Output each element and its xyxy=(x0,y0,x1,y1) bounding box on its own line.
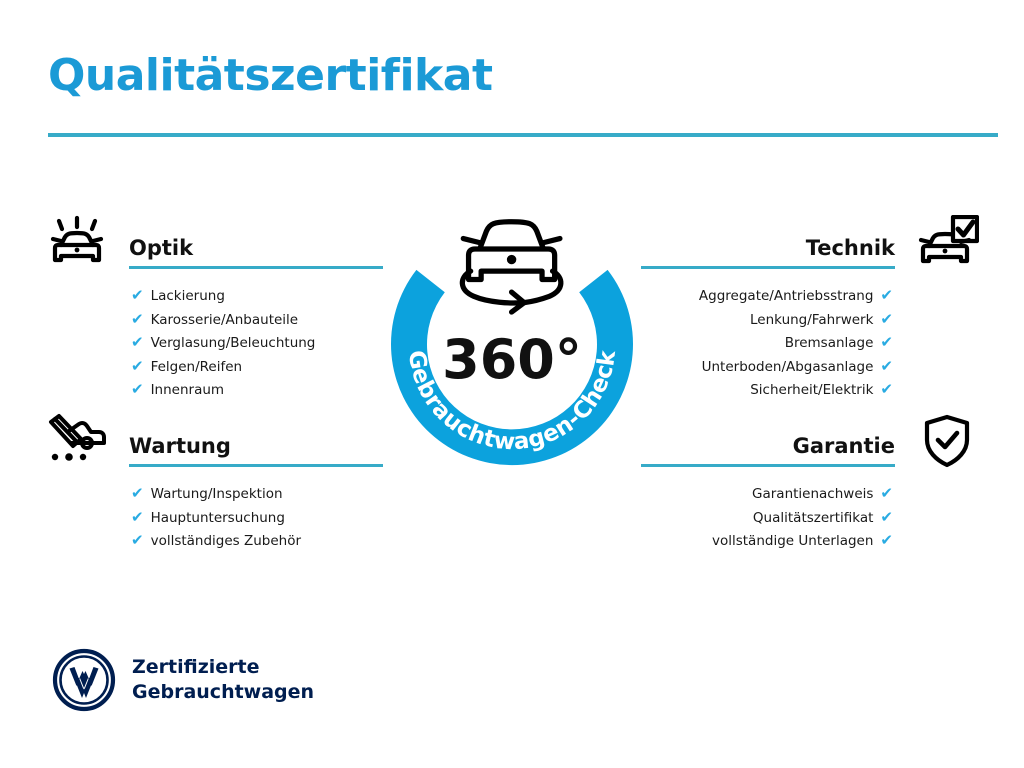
check-icon: ✔ xyxy=(880,359,893,374)
check-icon: ✔ xyxy=(131,510,144,525)
section-title-wrap: Technik xyxy=(641,214,895,272)
list-item: ✔Karosserie/Anbauteile xyxy=(43,309,383,333)
check-icon: ✔ xyxy=(880,312,893,327)
list-item: ✔Verglasung/Beleuchtung xyxy=(43,332,383,356)
section-title: Garantie xyxy=(793,434,895,458)
section-title: Wartung xyxy=(129,434,231,458)
footer-brand-text: Zertifizierte Gebrauchtwagen xyxy=(132,655,314,705)
list-item: ✔Hauptuntersuchung xyxy=(43,507,383,531)
list-item-label: Innenraum xyxy=(151,379,225,403)
section-header: Optik xyxy=(43,214,383,276)
list-item: Qualitätszertifikat✔ xyxy=(641,507,981,531)
car-checkbox-icon xyxy=(913,214,981,272)
badge-360-gebrauchtwagen-check: Gebrauchtwagen-Check 360° xyxy=(369,196,655,486)
list-item-label: Qualitätszertifikat xyxy=(753,507,874,531)
service-record-pencil-car-icon xyxy=(43,412,111,470)
header-divider xyxy=(48,133,998,137)
section-title-wrap: Garantie xyxy=(641,412,895,470)
section-divider xyxy=(641,266,895,269)
check-icon: ✔ xyxy=(131,359,144,374)
section-divider xyxy=(129,266,383,269)
list-item: ✔vollständiges Zubehör xyxy=(43,530,383,554)
check-icon: ✔ xyxy=(880,510,893,525)
check-icon: ✔ xyxy=(880,335,893,350)
vw-logo xyxy=(52,648,116,712)
check-icon: ✔ xyxy=(131,288,144,303)
check-icon: ✔ xyxy=(131,335,144,350)
list-item: Unterboden/Abgasanlage✔ xyxy=(641,356,981,380)
badge-center-label: 360° xyxy=(442,328,582,391)
list-item-label: Garantienachweis xyxy=(752,483,873,507)
section-divider xyxy=(129,464,383,467)
check-icon: ✔ xyxy=(131,533,144,548)
checklist-optik: ✔Lackierung ✔Karosserie/Anbauteile ✔Verg… xyxy=(43,285,383,403)
list-item-label: Hauptuntersuchung xyxy=(151,507,285,531)
car-rotate-360-icon xyxy=(462,222,561,312)
list-item: Garantienachweis✔ xyxy=(641,483,981,507)
checklist-technik: Aggregate/Antriebsstrang✔ Lenkung/Fahrwe… xyxy=(641,285,981,403)
footer-brand: Zertifizierte Gebrauchtwagen xyxy=(52,648,314,712)
section-divider xyxy=(641,464,895,467)
list-item-label: vollständige Unterlagen xyxy=(712,530,873,554)
section-header: Garantie xyxy=(641,412,981,474)
list-item-label: Aggregate/Antriebsstrang xyxy=(699,285,874,309)
list-item: vollständige Unterlagen✔ xyxy=(641,530,981,554)
list-item: Bremsanlage✔ xyxy=(641,332,981,356)
check-icon: ✔ xyxy=(880,288,893,303)
section-technik: Technik Aggregate/Antriebsstrang✔ Lenkun… xyxy=(641,214,981,403)
page-title: Qualitätszertifikat xyxy=(48,52,493,100)
list-item-label: Lackierung xyxy=(151,285,225,309)
list-item: Aggregate/Antriebsstrang✔ xyxy=(641,285,981,309)
list-item-label: Wartung/Inspektion xyxy=(151,483,283,507)
list-item-label: Karosserie/Anbauteile xyxy=(151,309,299,333)
section-title-wrap: Optik xyxy=(129,214,383,272)
list-item: Sicherheit/Elektrik✔ xyxy=(641,379,981,403)
section-wartung: Wartung ✔Wartung/Inspektion ✔Hauptunters… xyxy=(43,412,383,554)
section-title-wrap: Wartung xyxy=(129,412,383,470)
check-icon: ✔ xyxy=(131,312,144,327)
list-item-label: vollständiges Zubehör xyxy=(151,530,301,554)
check-icon: ✔ xyxy=(880,486,893,501)
section-header: Technik xyxy=(641,214,981,276)
check-icon: ✔ xyxy=(880,533,893,548)
list-item-label: Felgen/Reifen xyxy=(151,356,243,380)
section-garantie: Garantie Garantienachweis✔ Qualitätszert… xyxy=(641,412,981,554)
list-item: Lenkung/Fahrwerk✔ xyxy=(641,309,981,333)
footer-line-2: Gebrauchtwagen xyxy=(132,680,314,705)
list-item-label: Unterboden/Abgasanlage xyxy=(702,356,874,380)
list-item-label: Verglasung/Beleuchtung xyxy=(151,332,316,356)
section-header: Wartung xyxy=(43,412,383,474)
section-optik: Optik ✔Lackierung ✔Karosserie/Anbauteile… xyxy=(43,214,383,403)
badge-svg: Gebrauchtwagen-Check 360° xyxy=(369,196,655,486)
list-item: ✔Wartung/Inspektion xyxy=(43,483,383,507)
list-item-label: Bremsanlage xyxy=(785,332,874,356)
list-item: ✔Felgen/Reifen xyxy=(43,356,383,380)
list-item: ✔Innenraum xyxy=(43,379,383,403)
checklist-garantie: Garantienachweis✔ Qualitätszertifikat✔ v… xyxy=(641,483,981,554)
check-icon: ✔ xyxy=(131,486,144,501)
checklist-wartung: ✔Wartung/Inspektion ✔Hauptuntersuchung ✔… xyxy=(43,483,383,554)
list-item-label: Lenkung/Fahrwerk xyxy=(750,309,873,333)
check-icon: ✔ xyxy=(131,382,144,397)
car-shine-icon xyxy=(43,214,111,272)
list-item: ✔Lackierung xyxy=(43,285,383,309)
check-icon: ✔ xyxy=(880,382,893,397)
section-title: Technik xyxy=(806,236,895,260)
footer-line-1: Zertifizierte xyxy=(132,655,314,680)
shield-check-icon xyxy=(913,412,981,470)
section-title: Optik xyxy=(129,236,193,260)
list-item-label: Sicherheit/Elektrik xyxy=(750,379,873,403)
